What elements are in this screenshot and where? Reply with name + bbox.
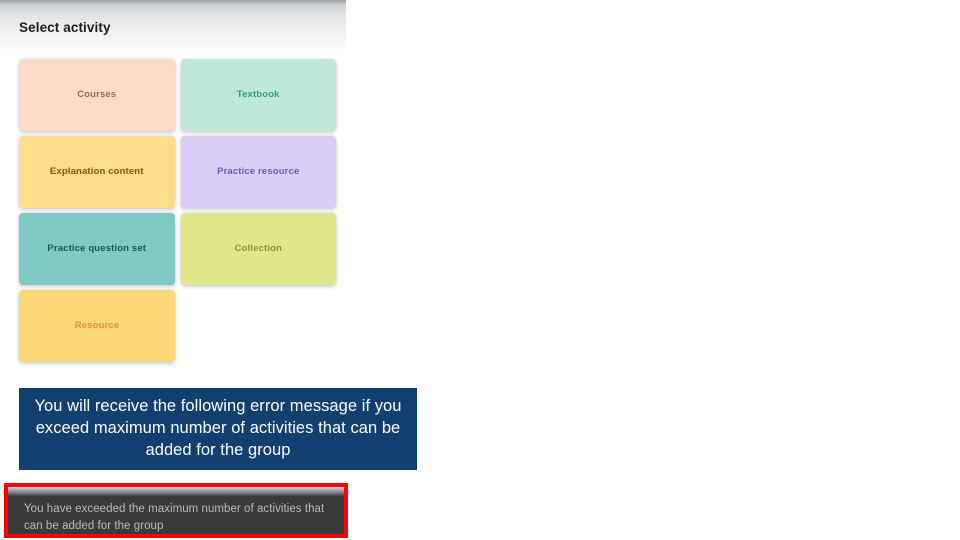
page-title: Select activity — [19, 20, 111, 35]
panel-header: Select activity — [0, 0, 346, 52]
tile-row: Explanation content Practice resource — [19, 136, 336, 208]
activity-tile-textbook[interactable]: Textbook — [181, 59, 337, 131]
activity-tile-practice-question-set[interactable]: Practice question set — [19, 213, 175, 285]
error-highlight-box: You have exceeded the maximum number of … — [4, 483, 348, 538]
activity-tile-courses[interactable]: Courses — [19, 59, 175, 131]
activity-tile-grid: Courses Textbook Explanation content Pra… — [19, 59, 336, 367]
tile-label: Explanation content — [50, 166, 144, 177]
tile-row: Resource — [19, 290, 336, 362]
tile-row: Courses Textbook — [19, 59, 336, 131]
tile-row: Practice question set Collection — [19, 213, 336, 285]
annotation-text: You will receive the following error mes… — [27, 396, 409, 461]
error-toast: You have exceeded the maximum number of … — [8, 487, 344, 534]
activity-tile-explanation-content[interactable]: Explanation content — [19, 136, 175, 208]
activity-tile-practice-resource[interactable]: Practice resource — [181, 136, 337, 208]
annotation-callout: You will receive the following error mes… — [19, 388, 417, 470]
activity-tile-collection[interactable]: Collection — [181, 213, 337, 285]
tile-label: Practice resource — [217, 166, 299, 177]
activity-tile-resource[interactable]: Resource — [19, 290, 175, 362]
tile-label: Collection — [235, 243, 282, 254]
toast-top-bar — [8, 487, 344, 496]
tile-label: Resource — [75, 320, 120, 331]
select-activity-panel: Select activity Courses Textbook Explana… — [0, 0, 346, 372]
tile-label: Textbook — [237, 89, 280, 100]
error-toast-message: You have exceeded the maximum number of … — [24, 501, 332, 534]
tile-label: Courses — [77, 89, 116, 100]
tile-label: Practice question set — [47, 243, 146, 254]
